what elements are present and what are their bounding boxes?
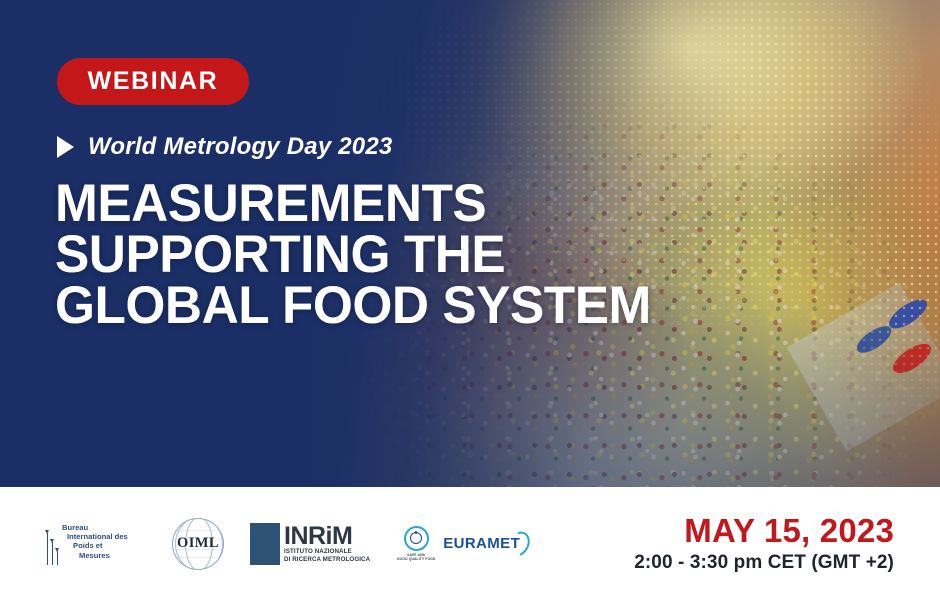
euramet-caption-line-2: GOOD QUALITY FOOD	[397, 557, 436, 561]
footer-bar: Bureau International des Poids et Mesure…	[0, 487, 940, 600]
event-date: MAY 15, 2023	[634, 513, 894, 549]
bipm-ruler-icon	[46, 525, 62, 565]
logo-bipm: Bureau International des Poids et Mesure…	[46, 523, 146, 565]
inrim-subtitle-line-1: ISTITUTO NAZIONALE	[284, 548, 370, 555]
inrim-text: INRiM ISTITUTO NAZIONALE DI RICERCA METR…	[280, 523, 370, 565]
bipm-line-2: International des	[62, 532, 128, 541]
partner-logos: Bureau International des Poids et Mesure…	[0, 518, 520, 570]
inrim-block-icon	[250, 523, 280, 565]
bipm-wordmark: Bureau International des Poids et Mesure…	[62, 523, 128, 561]
logo-inrim: INRiM ISTITUTO NAZIONALE DI RICERCA METR…	[250, 523, 370, 565]
bipm-line-4: Mesures	[62, 551, 128, 560]
bipm-line-1: Bureau	[62, 523, 128, 532]
logo-euramet: SAFE AND GOOD QUALITY FOOD EURAMET	[396, 526, 520, 562]
play-triangle-icon	[57, 136, 74, 158]
webinar-badge: WEBINAR	[57, 58, 249, 105]
event-subtitle: World Metrology Day 2023	[88, 133, 392, 161]
euramet-swoosh-icon	[504, 527, 534, 559]
page-title: MEASUREMENTS SUPPORTING THE GLOBAL FOOD …	[55, 178, 651, 331]
inrim-subtitle-line-2: DI RICERCA METROLOGICA	[284, 556, 370, 563]
euramet-emblem-caption: SAFE AND GOOD QUALITY FOOD	[397, 553, 436, 561]
hero-content: WEBINAR World Metrology Day 2023 MEASURE…	[0, 0, 940, 487]
bipm-line-3: Poids et	[62, 541, 128, 550]
euramet-circle-icon	[404, 526, 429, 551]
inrim-subtitle: ISTITUTO NAZIONALE DI RICERCA METROLOGIC…	[284, 548, 370, 563]
event-time: 2:00 - 3:30 pm CET (GMT +2)	[634, 552, 894, 574]
event-datetime: MAY 15, 2023 2:00 - 3:30 pm CET (GMT +2)	[634, 513, 940, 574]
oiml-wordmark: OIML	[172, 518, 224, 570]
logo-oiml: OIML	[172, 518, 224, 570]
euramet-wordmark-group: EURAMET	[443, 535, 520, 552]
hero-section: WEBINAR World Metrology Day 2023 MEASURE…	[0, 0, 940, 487]
subtitle-row: World Metrology Day 2023	[57, 133, 392, 161]
euramet-emblem: SAFE AND GOOD QUALITY FOOD	[396, 526, 436, 562]
webinar-banner: WEBINAR World Metrology Day 2023 MEASURE…	[0, 0, 940, 600]
inrim-wordmark: INRiM	[284, 524, 370, 548]
